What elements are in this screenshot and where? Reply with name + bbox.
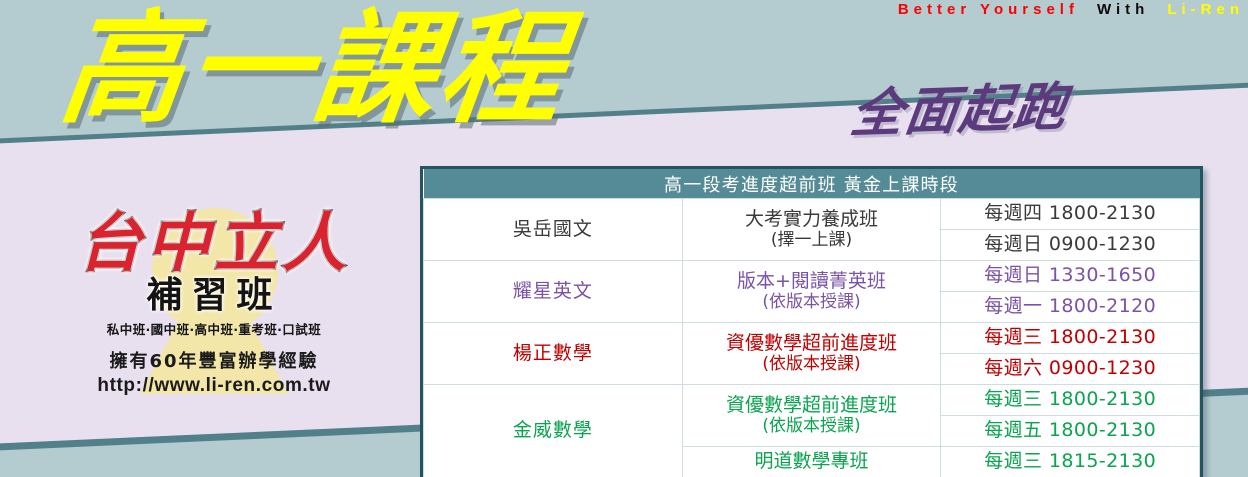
logo-name: 台中立人 [44,212,384,276]
time-cell: 每週四 1800-2130 [941,199,1200,230]
time-cell: 每週六 0900-1230 [941,354,1200,385]
time-cell: 每週日 0900-1230 [941,230,1200,261]
time-cell: 每週日 1330-1650 [941,261,1200,292]
time-cell: 每週三 1800-2130 [941,323,1200,354]
logo-class-list: 私中班‧國中班‧高中班‧重考班‧口試班 [44,319,384,338]
poster-root: Better YourselfWithLi-Ren 高一課程 全面起跑 台中立人… [0,0,1248,477]
tagline-part1: Better Yourself [898,1,1079,18]
course-cell: 明道數學專班 [682,447,941,477]
course-cell: 資優數學超前進度班(依版本授課) [682,385,941,447]
logo-website-url[interactable]: http://www.li-ren.com.tw [44,374,384,398]
course-note: (擇一上課) [687,231,937,250]
teacher-cell: 金威數學 [424,385,683,477]
logo: 台中立人 補習班 私中班‧國中班‧高中班‧重考班‧口試班 擁有60年豐富辦學經驗… [44,212,384,397]
schedule-table: 高一段考進度超前班 黃金上課時段 吳岳國文大考實力養成班(擇一上課)每週四 18… [423,169,1200,477]
teacher-cell: 楊正數學 [424,323,683,385]
table-header-row: 高一段考進度超前班 黃金上課時段 [424,169,1200,199]
logo-type: 補習班 [44,278,384,314]
schedule-header-title: 高一段考進度超前班 黃金上課時段 [424,169,1200,199]
tagline-part3: Li-Ren [1167,1,1244,18]
page-subtitle: 全面起跑 [847,64,1073,146]
schedule-table-body: 吳岳國文大考實力養成班(擇一上課)每週四 1800-2130每週日 0900-1… [424,199,1200,477]
course-note: (依版本授課) [687,293,937,312]
page-title: 高一課程 [54,4,574,136]
table-row: 金威數學資優數學超前進度班(依版本授課)每週三 1800-2130 [424,385,1200,416]
teacher-cell: 耀星英文 [424,261,683,323]
table-row: 耀星英文版本+閱讀菁英班(依版本授課)每週日 1330-1650 [424,261,1200,292]
teacher-cell: 吳岳國文 [424,199,683,261]
time-cell: 每週五 1800-2130 [941,416,1200,447]
tagline-part2: With [1097,1,1149,18]
time-cell: 每週一 1800-2120 [941,292,1200,323]
course-cell: 大考實力養成班(擇一上課) [682,199,941,261]
schedule-table-container: 高一段考進度超前班 黃金上課時段 吳岳國文大考實力養成班(擇一上課)每週四 18… [420,166,1203,477]
course-cell: 資優數學超前進度班(依版本授課) [682,323,941,385]
course-cell: 版本+閱讀菁英班(依版本授課) [682,261,941,323]
time-cell: 每週三 1800-2130 [941,385,1200,416]
table-row: 楊正數學資優數學超前進度班(依版本授課)每週三 1800-2130 [424,323,1200,354]
logo-experience: 擁有60年豐富辦學經驗 [44,351,384,374]
table-row: 吳岳國文大考實力養成班(擇一上課)每週四 1800-2130 [424,199,1200,230]
course-note: (依版本授課) [687,417,937,436]
course-note: (依版本授課) [687,355,937,374]
time-cell: 每週三 1815-2130 [941,447,1200,477]
